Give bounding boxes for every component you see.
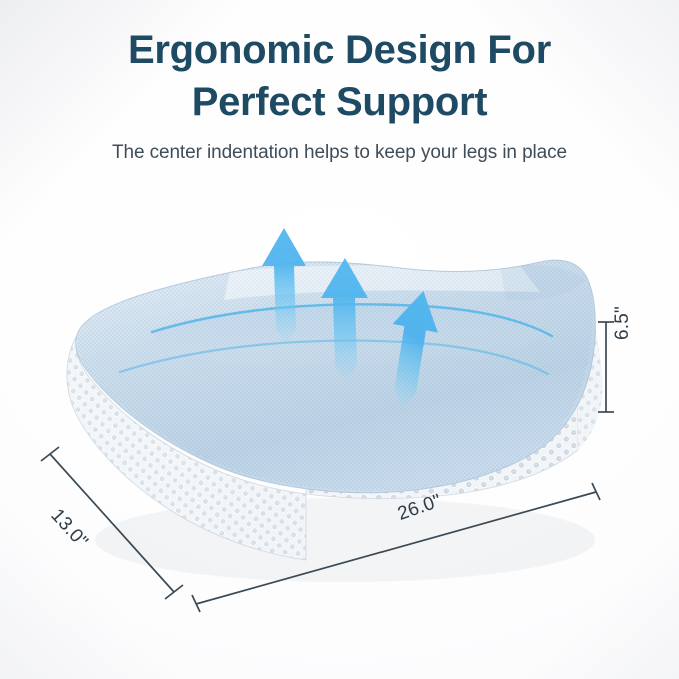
dimension-label-height: 6.5" <box>612 306 634 340</box>
headline-line-2: Perfect Support <box>0 76 679 128</box>
page-subtitle: The center indentation helps to keep you… <box>0 142 679 164</box>
pillow-shadow <box>95 498 595 582</box>
headline-line-1: Ergonomic Design For <box>128 28 551 72</box>
product-infographic: Ergonomic Design For Perfect Support The… <box>0 0 679 679</box>
page-title: Ergonomic Design For Perfect Support <box>0 24 679 128</box>
